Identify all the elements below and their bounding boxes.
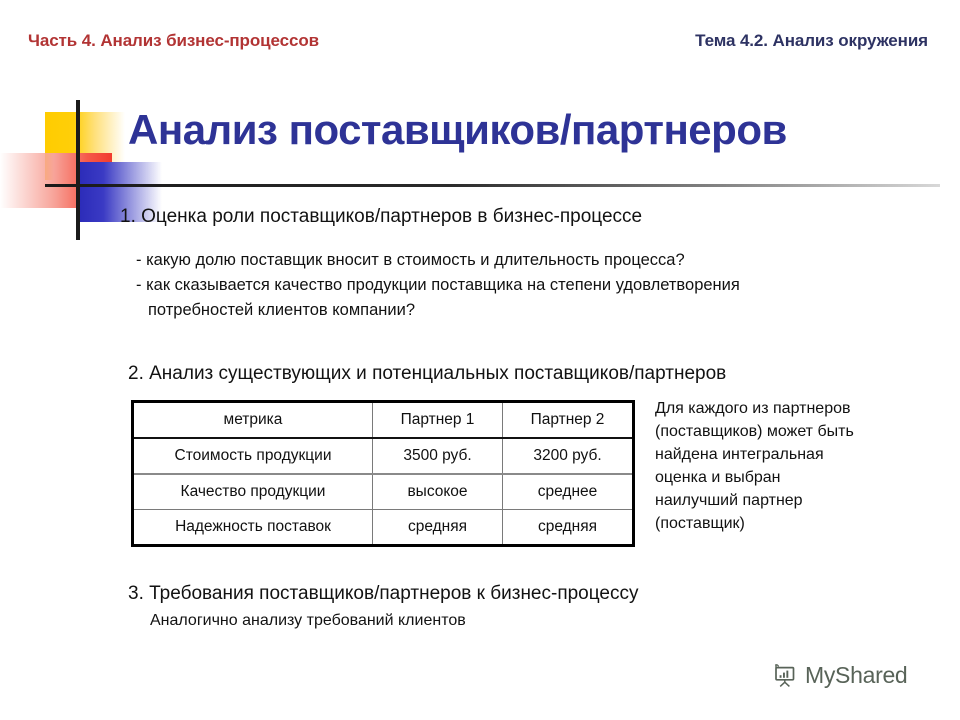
cell-metric-name: Надежность поставок — [133, 510, 373, 546]
page-title: Анализ поставщиков/партнеров — [128, 106, 787, 154]
cell-partner2: среднее — [503, 474, 634, 510]
partners-metrics-table: метрика Партнер 1 Партнер 2 Стоимость пр… — [131, 400, 635, 547]
cell-partner1: высокое — [373, 474, 503, 510]
table-row: Надежность поставок средняя средняя — [133, 510, 634, 546]
side-note-line: оценка и выбран — [655, 466, 895, 489]
section-1-heading: 1. Оценка роли поставщиков/партнеров в б… — [120, 206, 642, 228]
title-underline-rule — [45, 184, 940, 187]
column-header-partner2: Партнер 2 — [503, 402, 634, 439]
watermark: MyShared — [772, 662, 907, 689]
list-item: - какую долю поставщик вносит в стоимост… — [136, 248, 740, 273]
watermark-label: MyShared — [805, 662, 907, 689]
side-note-line: Для каждого из партнеров — [655, 397, 895, 420]
side-note-line: найдена интегральная — [655, 443, 895, 466]
header-left-label: Часть 4. Анализ бизнес-процессов — [28, 31, 319, 51]
table-header-row: метрика Партнер 1 Партнер 2 — [133, 402, 634, 439]
side-note: Для каждого из партнеров (поставщиков) м… — [655, 397, 895, 535]
header-right-label: Тема 4.2. Анализ окружения — [695, 31, 928, 51]
cell-metric-name: Качество продукции — [133, 474, 373, 510]
cell-partner2: 3200 руб. — [503, 438, 634, 474]
side-note-line: (поставщиков) может быть — [655, 420, 895, 443]
section-3-subtext: Аналогично анализу требований клиентов — [150, 612, 466, 630]
table-row: Стоимость продукции 3500 руб. 3200 руб. — [133, 438, 634, 474]
column-header-partner1: Партнер 1 — [373, 402, 503, 439]
column-header-metric: метрика — [133, 402, 373, 439]
presentation-board-icon — [772, 663, 798, 689]
cell-partner2: средняя — [503, 510, 634, 546]
cell-partner1: средняя — [373, 510, 503, 546]
side-note-line: (поставщик) — [655, 512, 895, 535]
cell-metric-name: Стоимость продукции — [133, 438, 373, 474]
decor-red-square — [0, 153, 112, 208]
section-1-bullet-list: - какую долю поставщик вносит в стоимост… — [136, 248, 740, 323]
section-2-heading: 2. Анализ существующих и потенциальных п… — [128, 363, 726, 385]
list-item-continuation: потребностей клиентов компании? — [136, 298, 740, 323]
side-note-line: наилучший партнер — [655, 489, 895, 512]
table-row: Качество продукции высокое среднее — [133, 474, 634, 510]
slide-canvas: Часть 4. Анализ бизнес-процессов Тема 4.… — [0, 0, 960, 720]
section-3-heading: 3. Требования поставщиков/партнеров к би… — [128, 583, 639, 605]
decor-yellow-square — [45, 112, 125, 180]
list-item: - как сказывается качество продукции пос… — [136, 273, 740, 298]
cell-partner1: 3500 руб. — [373, 438, 503, 474]
decor-vertical-bar — [76, 100, 80, 240]
